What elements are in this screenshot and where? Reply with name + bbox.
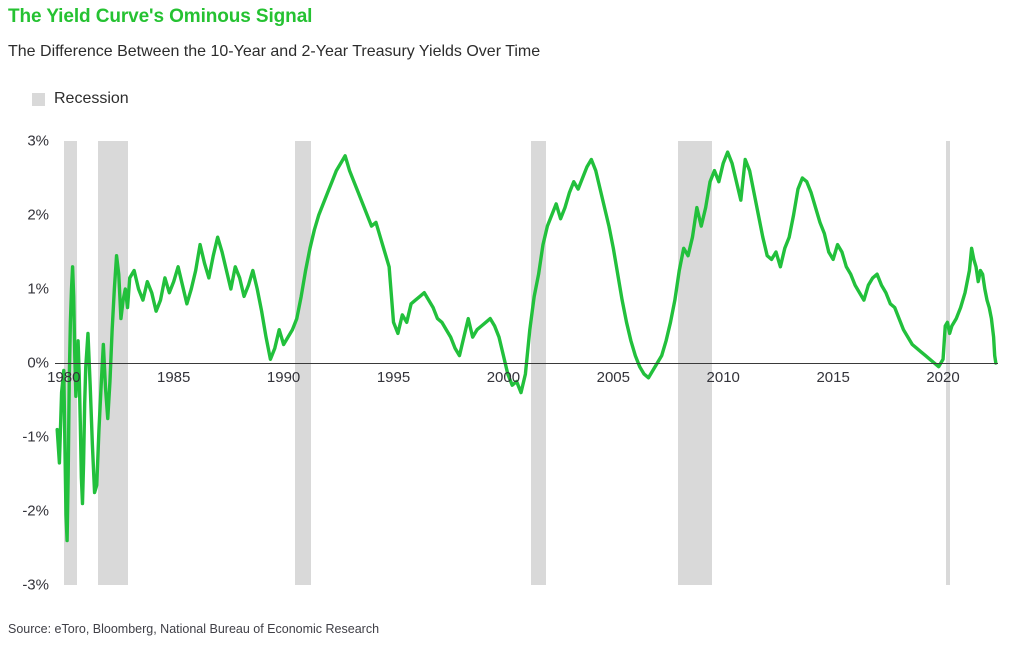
x-axis-tick-label: 2020 <box>926 369 959 386</box>
y-axis-tick-label: -3% <box>3 577 49 594</box>
x-axis-tick-label: 2015 <box>816 369 849 386</box>
x-axis-tick-label: 2010 <box>707 369 740 386</box>
y-axis-tick-label: -2% <box>3 503 49 520</box>
y-axis-tick-label: 0% <box>3 355 49 372</box>
x-axis-tick-label: 1990 <box>267 369 300 386</box>
x-axis-tick-label: 1995 <box>377 369 410 386</box>
chart-title: The Yield Curve's Ominous Signal <box>8 6 312 28</box>
y-axis-tick-label: 1% <box>3 281 49 298</box>
y-axis-tick-label: -1% <box>3 429 49 446</box>
y-axis-tick-label: 2% <box>3 207 49 224</box>
y-axis-tick-label: 3% <box>3 133 49 150</box>
y-axis: 3%2%1%0%-1%-2%-3% <box>0 0 49 647</box>
x-axis-tick-label: 1980 <box>47 369 80 386</box>
zero-axis-line <box>55 363 998 364</box>
source-note: Source: eToro, Bloomberg, National Burea… <box>8 622 379 636</box>
x-axis-tick-label: 1985 <box>157 369 190 386</box>
recession-legend-label: Recession <box>54 90 129 108</box>
x-axis-tick-label: 2000 <box>487 369 520 386</box>
chart-subtitle: The Difference Between the 10-Year and 2… <box>8 43 540 61</box>
x-axis-tick-label: 2005 <box>597 369 630 386</box>
